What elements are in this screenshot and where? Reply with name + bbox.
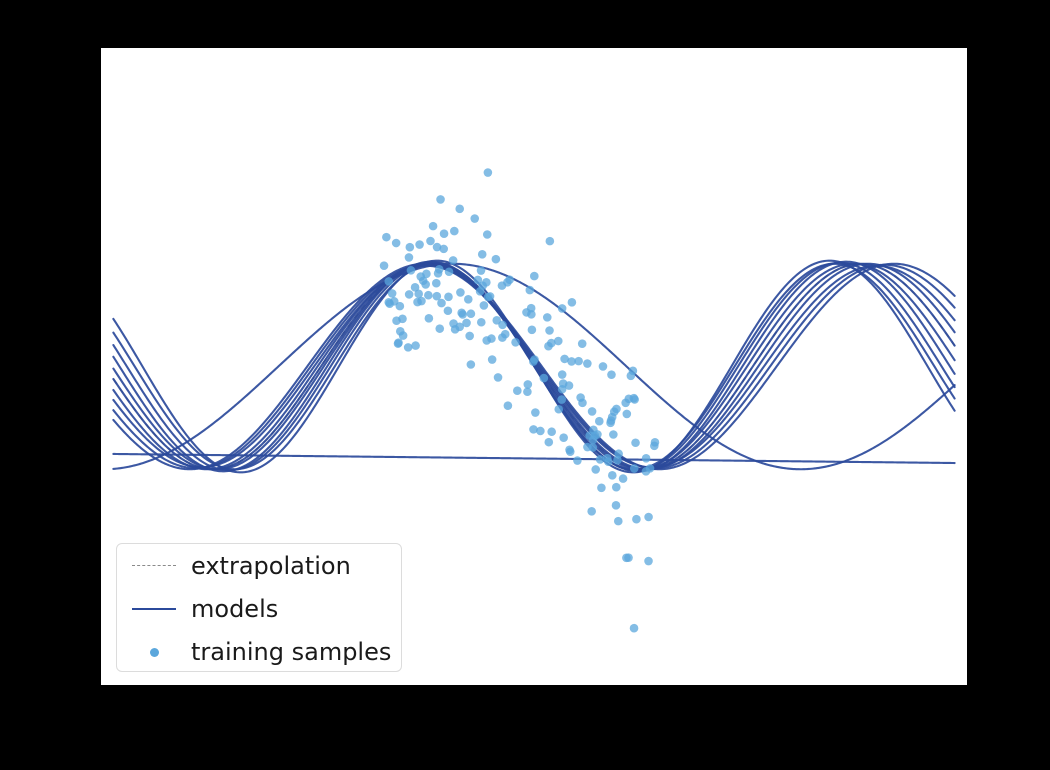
training-sample-point <box>578 399 587 408</box>
training-sample-point <box>444 306 453 315</box>
training-sample-point <box>613 456 622 465</box>
legend-entry-training-samples: training samples <box>117 630 401 673</box>
training-sample-point <box>593 430 602 439</box>
legend-entry-extrapolation: extrapolation <box>117 544 401 587</box>
training-sample-point <box>498 321 507 330</box>
training-sample-point <box>558 304 567 313</box>
training-sample-point <box>494 373 503 382</box>
training-sample-point <box>429 222 438 231</box>
training-sample-point <box>415 240 424 249</box>
training-sample-point <box>399 331 408 340</box>
training-sample-point <box>432 279 441 288</box>
training-sample-point <box>612 405 621 414</box>
training-sample-point <box>478 250 487 259</box>
training-sample-point <box>411 341 420 350</box>
training-sample-point <box>544 438 553 447</box>
training-sample-point <box>477 266 486 275</box>
training-sample-point <box>565 445 574 454</box>
training-sample-point <box>425 314 434 323</box>
training-sample-point <box>465 332 474 341</box>
training-sample-point <box>455 323 464 332</box>
training-sample-point <box>651 438 660 447</box>
training-sample-point <box>612 501 621 510</box>
training-sample-point <box>422 270 431 279</box>
training-sample-point <box>384 277 393 286</box>
training-sample-point <box>527 304 536 313</box>
training-sample-point <box>609 430 618 439</box>
training-sample-point <box>513 386 522 395</box>
training-sample-point <box>449 256 458 265</box>
training-sample-point <box>591 465 600 474</box>
training-sample-point <box>435 324 444 333</box>
training-sample-point <box>596 455 605 464</box>
training-sample-point <box>642 467 651 476</box>
training-sample-point <box>385 299 394 308</box>
training-sample-point <box>450 227 459 236</box>
training-sample-point <box>528 326 537 335</box>
training-sample-point <box>630 464 639 473</box>
training-sample-point <box>437 299 446 308</box>
training-sample-point <box>607 416 616 425</box>
training-sample-point <box>396 302 405 311</box>
training-sample-point <box>604 457 613 466</box>
figure-canvas: extrapolation models training samples <box>0 0 1050 770</box>
training-sample-point <box>470 214 479 223</box>
training-sample-point <box>644 557 653 566</box>
training-sample-point <box>405 290 414 299</box>
training-sample-point <box>583 359 592 368</box>
legend-label-models: models <box>191 597 278 621</box>
training-sample-point <box>392 239 401 248</box>
training-sample-point <box>629 394 638 403</box>
training-sample-point <box>554 337 563 346</box>
training-sample-point <box>394 338 403 347</box>
training-sample-point <box>546 237 555 246</box>
training-sample-point <box>543 313 552 322</box>
training-sample-point <box>492 255 501 264</box>
training-sample-point <box>621 398 630 407</box>
training-sample-point <box>488 355 497 364</box>
training-sample-point <box>631 438 640 447</box>
training-sample-point <box>540 374 549 383</box>
training-sample-point <box>599 362 608 371</box>
training-sample-point <box>424 291 433 300</box>
model-curves <box>113 261 954 473</box>
legend-label-extrapolation: extrapolation <box>191 554 351 578</box>
training-sample-point <box>464 295 473 304</box>
training-sample-point <box>413 298 422 307</box>
training-sample-point <box>444 293 453 302</box>
plot-axes: extrapolation models training samples <box>101 48 967 685</box>
training-sample-point <box>433 243 442 252</box>
training-sample-point <box>511 338 520 347</box>
training-sample-point <box>623 410 632 419</box>
training-sample-point <box>554 405 563 414</box>
training-sample-points <box>380 168 660 632</box>
training-sample-point <box>630 624 639 633</box>
training-sample-point <box>457 309 466 318</box>
training-sample-point <box>578 339 587 348</box>
solid-line-icon <box>117 587 191 630</box>
training-sample-point <box>498 333 507 342</box>
training-sample-point <box>474 276 483 285</box>
training-sample-point <box>587 507 596 516</box>
training-sample-point <box>436 195 445 204</box>
training-sample-point <box>547 427 556 436</box>
training-sample-point <box>484 168 493 177</box>
training-sample-point <box>467 309 476 318</box>
dashed-line-icon <box>117 544 191 587</box>
legend-label-training-samples: training samples <box>191 640 391 664</box>
training-sample-point <box>644 513 653 522</box>
training-sample-point <box>642 454 651 463</box>
training-sample-point <box>456 288 465 297</box>
training-sample-point <box>589 443 598 452</box>
training-sample-point <box>529 425 538 434</box>
training-sample-point <box>558 370 567 379</box>
training-sample-point <box>595 417 604 426</box>
training-sample-point <box>530 272 539 281</box>
legend-entry-models: models <box>117 587 401 630</box>
training-sample-point <box>503 278 512 287</box>
dot-marker-icon <box>117 630 191 673</box>
training-sample-point <box>445 267 454 276</box>
training-sample-point <box>483 230 492 239</box>
training-sample-point <box>455 205 464 214</box>
training-sample-point <box>531 408 540 417</box>
legend-box: extrapolation models training samples <box>116 543 402 672</box>
training-sample-point <box>504 401 513 410</box>
training-sample-point <box>421 280 430 289</box>
training-sample-point <box>608 471 617 480</box>
training-sample-point <box>597 483 606 492</box>
training-sample-point <box>482 336 491 345</box>
training-sample-point <box>545 326 554 335</box>
training-sample-point <box>588 407 597 416</box>
training-sample-point <box>434 269 443 278</box>
training-sample-point <box>440 229 449 238</box>
training-sample-point <box>526 286 535 295</box>
training-sample-point <box>482 278 491 287</box>
training-sample-point <box>388 289 397 298</box>
training-sample-point <box>426 237 435 246</box>
training-sample-point <box>627 372 636 381</box>
training-sample-point <box>544 342 553 351</box>
training-sample-point <box>467 360 476 369</box>
training-sample-point <box>406 243 415 252</box>
training-sample-point <box>404 343 413 352</box>
training-sample-point <box>559 433 568 442</box>
training-sample-point <box>614 517 623 526</box>
training-sample-point <box>624 553 633 562</box>
training-sample-point <box>480 301 489 310</box>
training-sample-point <box>607 370 616 379</box>
training-sample-point <box>619 474 628 483</box>
training-sample-point <box>476 287 485 296</box>
training-sample-point <box>565 381 574 390</box>
training-sample-point <box>380 261 389 270</box>
training-sample-point <box>382 233 391 242</box>
training-sample-point <box>567 357 576 366</box>
training-sample-point <box>477 318 486 327</box>
training-sample-point <box>407 266 416 275</box>
training-sample-point <box>486 292 495 301</box>
training-sample-point <box>632 515 641 524</box>
training-sample-point <box>405 253 414 262</box>
training-sample-point <box>557 395 566 404</box>
training-sample-point <box>529 357 538 366</box>
training-sample-point <box>398 314 407 323</box>
training-sample-point <box>573 456 582 465</box>
training-sample-point <box>612 483 621 492</box>
training-sample-point <box>568 298 577 307</box>
training-sample-point <box>524 380 533 389</box>
